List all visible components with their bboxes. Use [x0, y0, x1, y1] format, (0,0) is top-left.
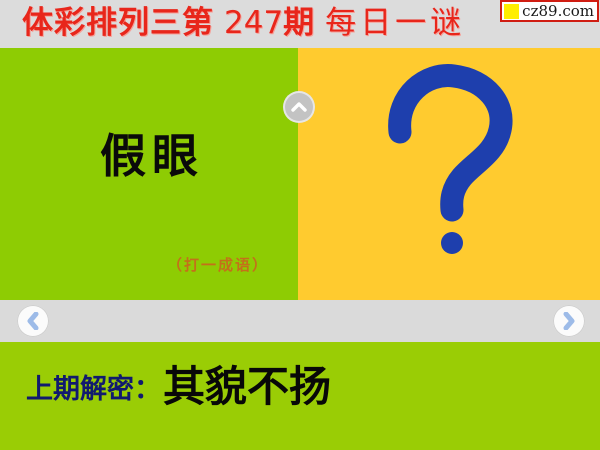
page-title: 体彩排列三第247期每日一谜 — [22, 2, 465, 44]
chevron-right-icon — [562, 312, 576, 330]
navigation-bar — [0, 300, 600, 342]
answer-panel — [298, 48, 600, 300]
previous-answer-label: 上期解密： — [26, 367, 161, 406]
question-mark-icon — [378, 60, 518, 260]
scroll-up-button[interactable] — [285, 93, 313, 121]
watermark-label: cz89.com — [522, 3, 594, 19]
title-subtitle: 每日一谜 — [325, 5, 465, 41]
title-main-text: 体彩排列三第 — [22, 5, 214, 41]
title-issue-number: 247 — [224, 5, 283, 41]
question-mark-wrapper — [298, 48, 600, 300]
previous-answer-panel: 上期解密： 其貌不扬 — [0, 342, 600, 450]
site-watermark: cz89.com — [500, 0, 599, 22]
previous-answer-value: 其貌不扬 — [163, 353, 331, 414]
watermark-swatch-icon — [504, 4, 519, 19]
previous-button[interactable] — [17, 305, 49, 337]
riddle-panel: 假眼 （打一成语） — [0, 48, 298, 300]
chevron-left-icon — [26, 312, 40, 330]
riddle-panels-row: 假眼 （打一成语） — [0, 48, 600, 300]
riddle-hint-wrapper: （打一成语） — [0, 48, 298, 300]
next-button[interactable] — [553, 305, 585, 337]
lottery-riddle-page: 体彩排列三第247期每日一谜 cz89.com 假眼 （打一成语） — [0, 0, 600, 450]
title-issue-suffix: 期 — [283, 5, 315, 41]
previous-answer-line: 上期解密： 其貌不扬 — [26, 350, 331, 411]
page-header: 体彩排列三第247期每日一谜 cz89.com — [0, 0, 600, 48]
riddle-hint: （打一成语） — [148, 254, 288, 275]
chevron-up-icon — [291, 101, 307, 113]
